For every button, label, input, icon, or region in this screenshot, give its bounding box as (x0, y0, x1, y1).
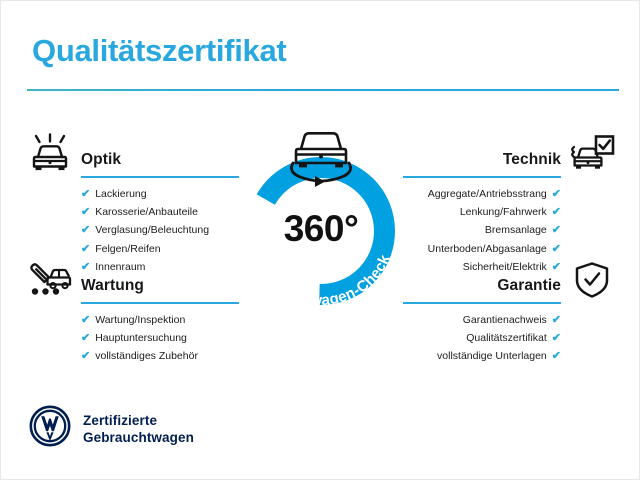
check-icon: ✔ (552, 311, 561, 329)
section-title: Technik (503, 151, 561, 169)
checklist-wartung: ✔Wartung/Inspektion ✔Hauptuntersuchung ✔… (25, 311, 239, 366)
list-item: ✔Karosserie/Anbauteile (25, 203, 239, 221)
list-item: ✔Lackierung (25, 185, 239, 203)
list-item: ✔Verglasung/Beleuchtung (25, 221, 239, 239)
section-wartung: Wartung ✔Wartung/Inspektion ✔Hauptunters… (25, 258, 239, 366)
check-icon: ✔ (552, 203, 561, 221)
footer-brand: Zertifizierte Gebrauchtwagen (29, 405, 194, 452)
page-title: Qualitätszertifikat (32, 33, 286, 69)
badge-center-label: 360° (284, 208, 359, 249)
section-header-garantie: Garantie (403, 258, 617, 304)
list-item-label: Unterboden/Abgasanlage (428, 240, 547, 258)
list-item-label: Felgen/Reifen (95, 240, 160, 258)
shield-check-icon (567, 258, 617, 302)
check-icon: ✔ (81, 221, 90, 239)
check-icon: ✔ (81, 203, 90, 221)
car-shine-icon (25, 132, 75, 176)
section-header-wartung: Wartung (25, 258, 239, 304)
list-item-label: Wartung/Inspektion (95, 311, 185, 329)
list-item: ✔Felgen/Reifen (25, 240, 239, 258)
brand-text: Zertifizierte Gebrauchtwagen (83, 412, 194, 446)
list-item: Garantienachweis✔ (403, 311, 617, 329)
check-icon: ✔ (552, 329, 561, 347)
check-icon: ✔ (81, 311, 90, 329)
section-divider (403, 302, 561, 304)
check-icon: ✔ (81, 240, 90, 258)
list-item: ✔vollständiges Zubehör (25, 347, 239, 365)
checklist-garantie: Garantienachweis✔ Qualitätszertifikat✔ v… (403, 311, 617, 366)
list-item: Aggregate/Antriebsstrang✔ (403, 185, 617, 203)
list-item-label: vollständige Unterlagen (437, 347, 547, 365)
list-item: Qualitätszertifikat✔ (403, 329, 617, 347)
section-header-technik: Technik (403, 132, 617, 178)
section-technik: Technik Aggregate/Antriebsstrang✔ Lenkun… (403, 132, 617, 276)
wrench-car-icon (25, 258, 75, 302)
check-icon: ✔ (552, 185, 561, 203)
check-icon: ✔ (81, 347, 90, 365)
section-garantie: Garantie Garantienachweis✔ Qualitätszert… (403, 258, 617, 366)
section-divider (81, 302, 239, 304)
check-icon: ✔ (81, 329, 90, 347)
list-item: ✔Wartung/Inspektion (25, 311, 239, 329)
check-icon: ✔ (81, 185, 90, 203)
badge-360-check: Gebrauchtwagen-Check 360° (233, 119, 409, 311)
check-icon: ✔ (552, 347, 561, 365)
section-header-optik: Optik (25, 132, 239, 178)
list-item-label: Lenkung/Fahrwerk (460, 203, 547, 221)
list-item: ✔Hauptuntersuchung (25, 329, 239, 347)
list-item-label: Qualitätszertifikat (466, 329, 547, 347)
list-item-label: Bremsanlage (485, 221, 547, 239)
vw-logo (29, 405, 71, 452)
list-item-label: Hauptuntersuchung (95, 329, 187, 347)
section-divider (403, 176, 561, 178)
check-icon: ✔ (552, 240, 561, 258)
list-item: Lenkung/Fahrwerk✔ (403, 203, 617, 221)
list-item-label: Garantienachweis (463, 311, 547, 329)
header-divider (27, 89, 619, 91)
brand-line-2: Gebrauchtwagen (83, 429, 194, 446)
list-item-label: Aggregate/Antriebsstrang (428, 185, 547, 203)
brand-line-1: Zertifizierte (83, 412, 194, 429)
list-item: Bremsanlage✔ (403, 221, 617, 239)
section-divider (81, 176, 239, 178)
list-item: Unterboden/Abgasanlage✔ (403, 240, 617, 258)
section-title: Garantie (497, 277, 561, 295)
list-item-label: Lackierung (95, 185, 146, 203)
list-item-label: Verglasung/Beleuchtung (95, 221, 209, 239)
section-optik: Optik ✔Lackierung ✔Karosserie/Anbauteile… (25, 132, 239, 276)
section-title: Wartung (81, 277, 144, 295)
list-item-label: vollständiges Zubehör (95, 347, 198, 365)
list-item-label: Karosserie/Anbauteile (95, 203, 198, 221)
list-item: vollständige Unterlagen✔ (403, 347, 617, 365)
check-icon: ✔ (552, 221, 561, 239)
car-checkbox-icon (567, 132, 617, 176)
certificate-page: Qualitätszertifikat (0, 0, 640, 480)
section-title: Optik (81, 151, 121, 169)
